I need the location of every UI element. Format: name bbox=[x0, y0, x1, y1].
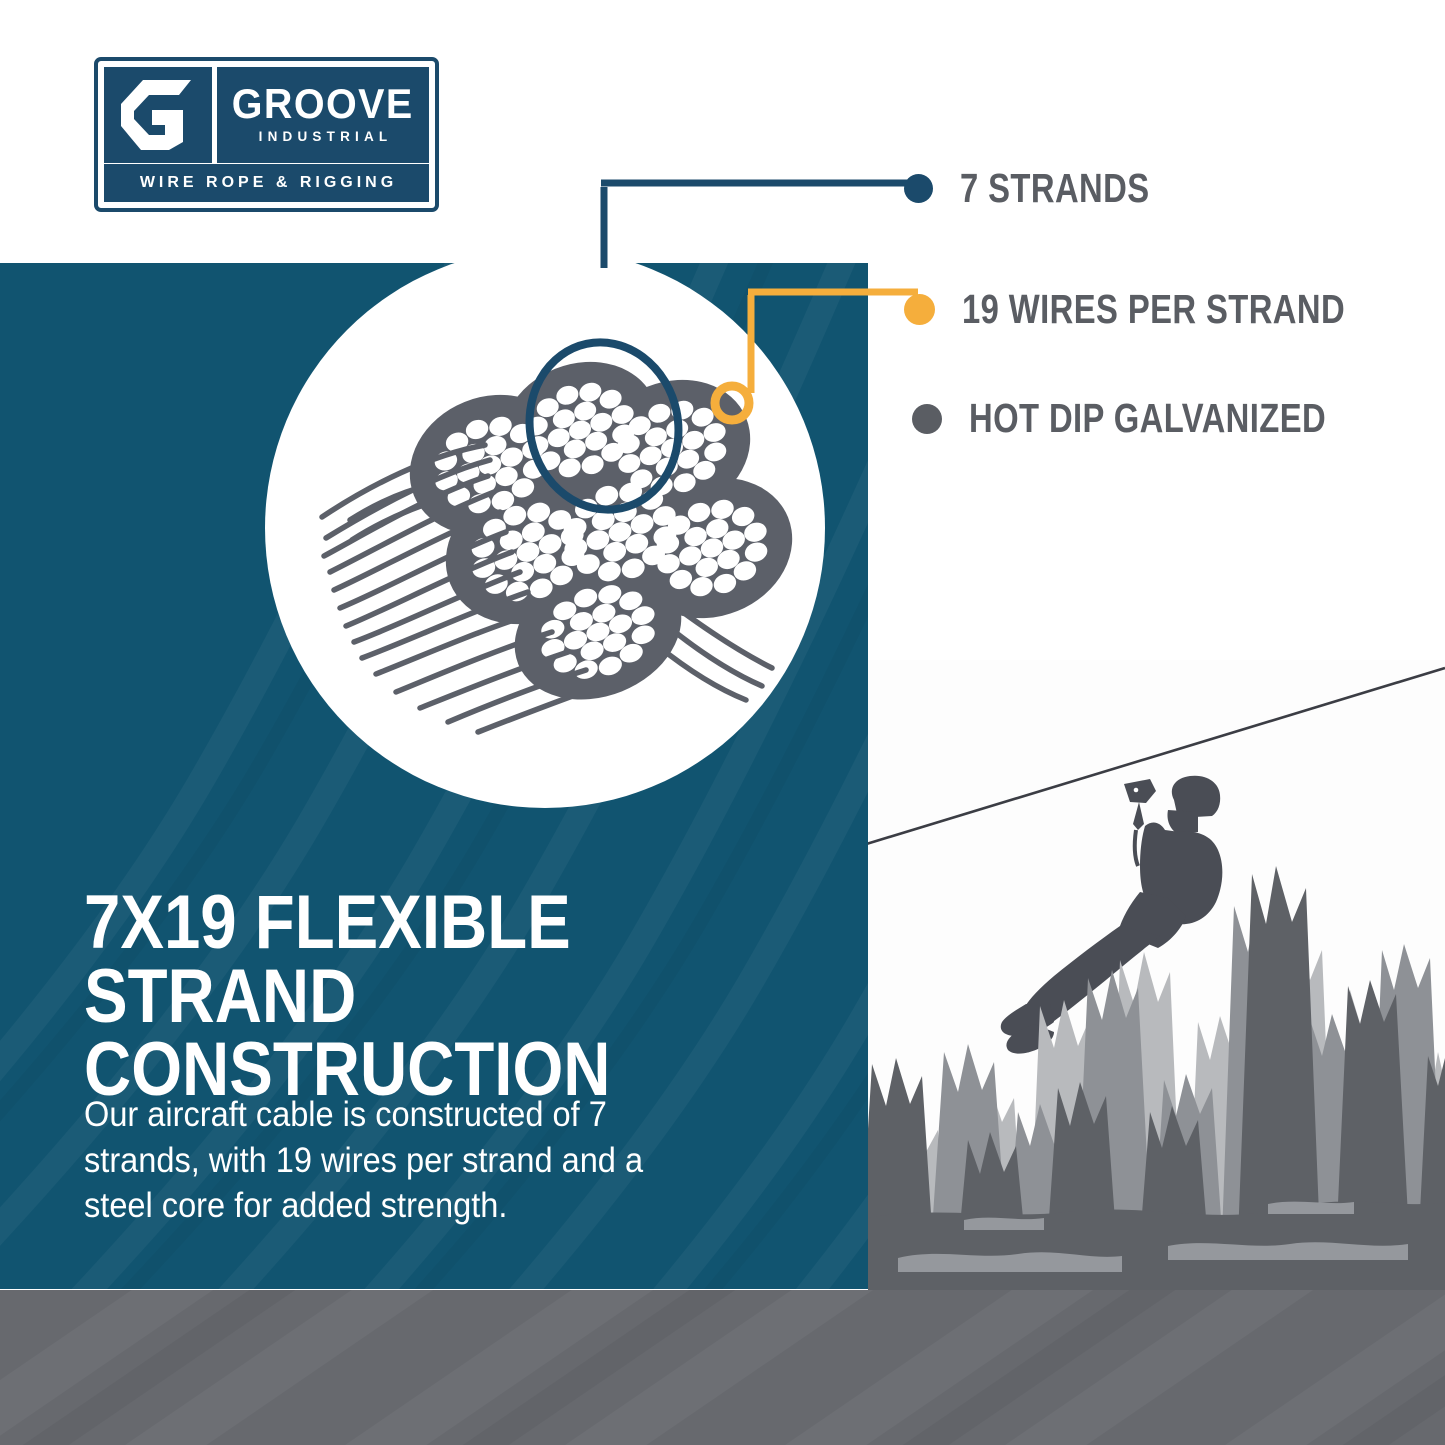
logo-frame: GROOVE INDUSTRIAL WIRE ROPE & RIGGING bbox=[94, 57, 439, 212]
dot-icon bbox=[912, 404, 942, 434]
callout-7-strands[interactable]: 7 STRANDS bbox=[904, 165, 1197, 212]
headline-line-2: STRAND CONSTRUCTION bbox=[84, 960, 738, 1107]
headline: 7X19 FLEXIBLE STRAND CONSTRUCTION bbox=[84, 886, 738, 1107]
dot-icon bbox=[904, 294, 935, 325]
groove-g-icon bbox=[119, 78, 197, 152]
callout-19-wires-per-strand[interactable]: 19 WIRES PER STRAND bbox=[904, 286, 1441, 333]
brand-subtitle: INDUSTRIAL bbox=[254, 129, 393, 144]
brand-tagline: WIRE ROPE & RIGGING bbox=[136, 174, 397, 192]
headline-line-1: 7X19 FLEXIBLE bbox=[84, 880, 571, 965]
logo-tagline-box: WIRE ROPE & RIGGING bbox=[104, 164, 429, 202]
body-paragraph: Our aircraft cable is constructed of 7 s… bbox=[84, 1092, 698, 1229]
bottom-bar-stripes bbox=[0, 1290, 1445, 1445]
logo-wordmark-box: GROOVE INDUSTRIAL bbox=[217, 67, 429, 163]
brand-name: GROOVE bbox=[232, 84, 414, 124]
callout-label: 19 WIRES PER STRAND bbox=[962, 286, 1345, 333]
callout-label: HOT DIP GALVANIZED bbox=[969, 395, 1326, 442]
callout-hot-dip-galvanized[interactable]: HOT DIP GALVANIZED bbox=[912, 395, 1415, 442]
bottom-bar bbox=[0, 1290, 1445, 1445]
callout-label: 7 STRANDS bbox=[960, 165, 1150, 212]
zipline-photo bbox=[868, 660, 1445, 1290]
infographic-canvas: 7X19 FLEXIBLE STRAND CONSTRUCTION Our ai… bbox=[0, 0, 1445, 1445]
logo-monogram-box bbox=[104, 67, 212, 163]
dot-icon bbox=[904, 174, 933, 203]
brand-logo[interactable]: GROOVE INDUSTRIAL WIRE ROPE & RIGGING bbox=[94, 57, 439, 212]
